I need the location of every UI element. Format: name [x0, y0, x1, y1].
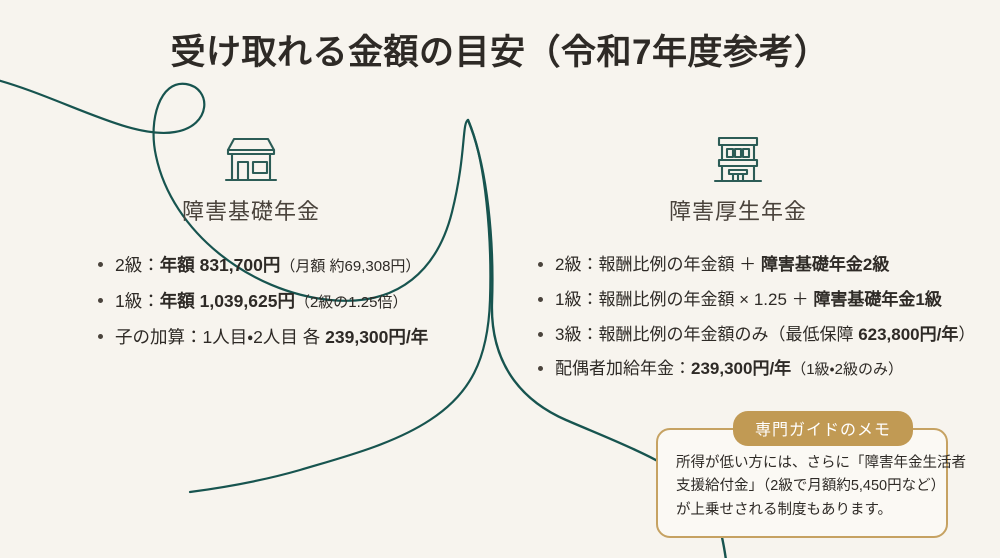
- item-label: 1級：: [115, 291, 160, 311]
- item-note: （月額 約69,308円）: [280, 258, 420, 275]
- item-subvalue: 1人目・2人目 各: [203, 327, 326, 347]
- item-label: 2級：報酬比例の年金額 ＋: [555, 255, 761, 274]
- list-item: 1級：年額 1,039,625円（2級の1.25倍）: [96, 288, 466, 315]
- item-value: 623,800円/年: [858, 325, 958, 344]
- item-note: （2級の1.25倍）: [295, 294, 408, 311]
- list-item: 子の加算：1人目・2人目 各 239,300円/年: [96, 324, 466, 351]
- storefront-icon: [36, 126, 466, 188]
- item-value: 239,300円/年: [691, 359, 791, 378]
- column-basic-pension: 障害基礎年金 2級：年額 831,700円（月額 約69,308円） 1級：年額…: [36, 126, 466, 359]
- item-value: 年額 1,039,625円: [160, 291, 295, 311]
- benefit-list-basic: 2級：年額 831,700円（月額 約69,308円） 1級：年額 1,039,…: [96, 252, 466, 350]
- memo-pill-label: 専門ガイドのメモ: [733, 411, 913, 446]
- list-item: 2級：報酬比例の年金額 ＋ 障害基礎年金2級: [536, 252, 968, 278]
- item-label: 2級：: [115, 255, 160, 275]
- list-item: 2級：年額 831,700円（月額 約69,308円）: [96, 252, 466, 279]
- item-label: 1級：報酬比例の年金額 × 1.25 ＋: [555, 290, 813, 309]
- memo-line: が上乗せされる制度もあります。: [676, 499, 930, 522]
- infographic-root: 受け取れる金額の目安（令和7年度参考） 障害基礎年金 2級：年額 831,700…: [0, 0, 1000, 558]
- column-heading: 障害厚生年金: [508, 194, 968, 226]
- list-item: 配偶者加給年金：239,300円/年（1級・2級のみ）: [536, 356, 968, 382]
- item-label: 配偶者加給年金：: [555, 359, 691, 378]
- memo-line: 支援給付金」（2級で月額約5,450円など）: [676, 475, 930, 498]
- office-building-icon: [508, 126, 968, 188]
- item-note: ）: [958, 325, 975, 344]
- item-value: 年額 831,700円: [160, 255, 281, 275]
- item-value: 障害基礎年金2級: [761, 255, 889, 274]
- item-label: 子の加算：: [115, 327, 203, 347]
- column-employee-pension: 障害厚生年金 2級：報酬比例の年金額 ＋ 障害基礎年金2級 1級：報酬比例の年金…: [508, 126, 968, 391]
- item-note: （1級・2級のみ）: [791, 361, 903, 378]
- item-value: 障害基礎年金1級: [813, 290, 941, 309]
- list-item: 3級：報酬比例の年金額のみ（最低保障 623,800円/年）: [536, 322, 968, 348]
- list-item: 1級：報酬比例の年金額 × 1.25 ＋ 障害基礎年金1級: [536, 287, 968, 313]
- benefit-list-employee: 2級：報酬比例の年金額 ＋ 障害基礎年金2級 1級：報酬比例の年金額 × 1.2…: [536, 252, 968, 382]
- memo-line: 所得が低い方には、さらに「障害年金生活者: [676, 452, 930, 475]
- page-title: 受け取れる金額の目安（令和7年度参考）: [0, 24, 1000, 75]
- item-label: 3級：報酬比例の年金額のみ（最低保障: [555, 325, 858, 344]
- item-value: 239,300円/年: [325, 327, 428, 347]
- column-heading: 障害基礎年金: [36, 194, 466, 226]
